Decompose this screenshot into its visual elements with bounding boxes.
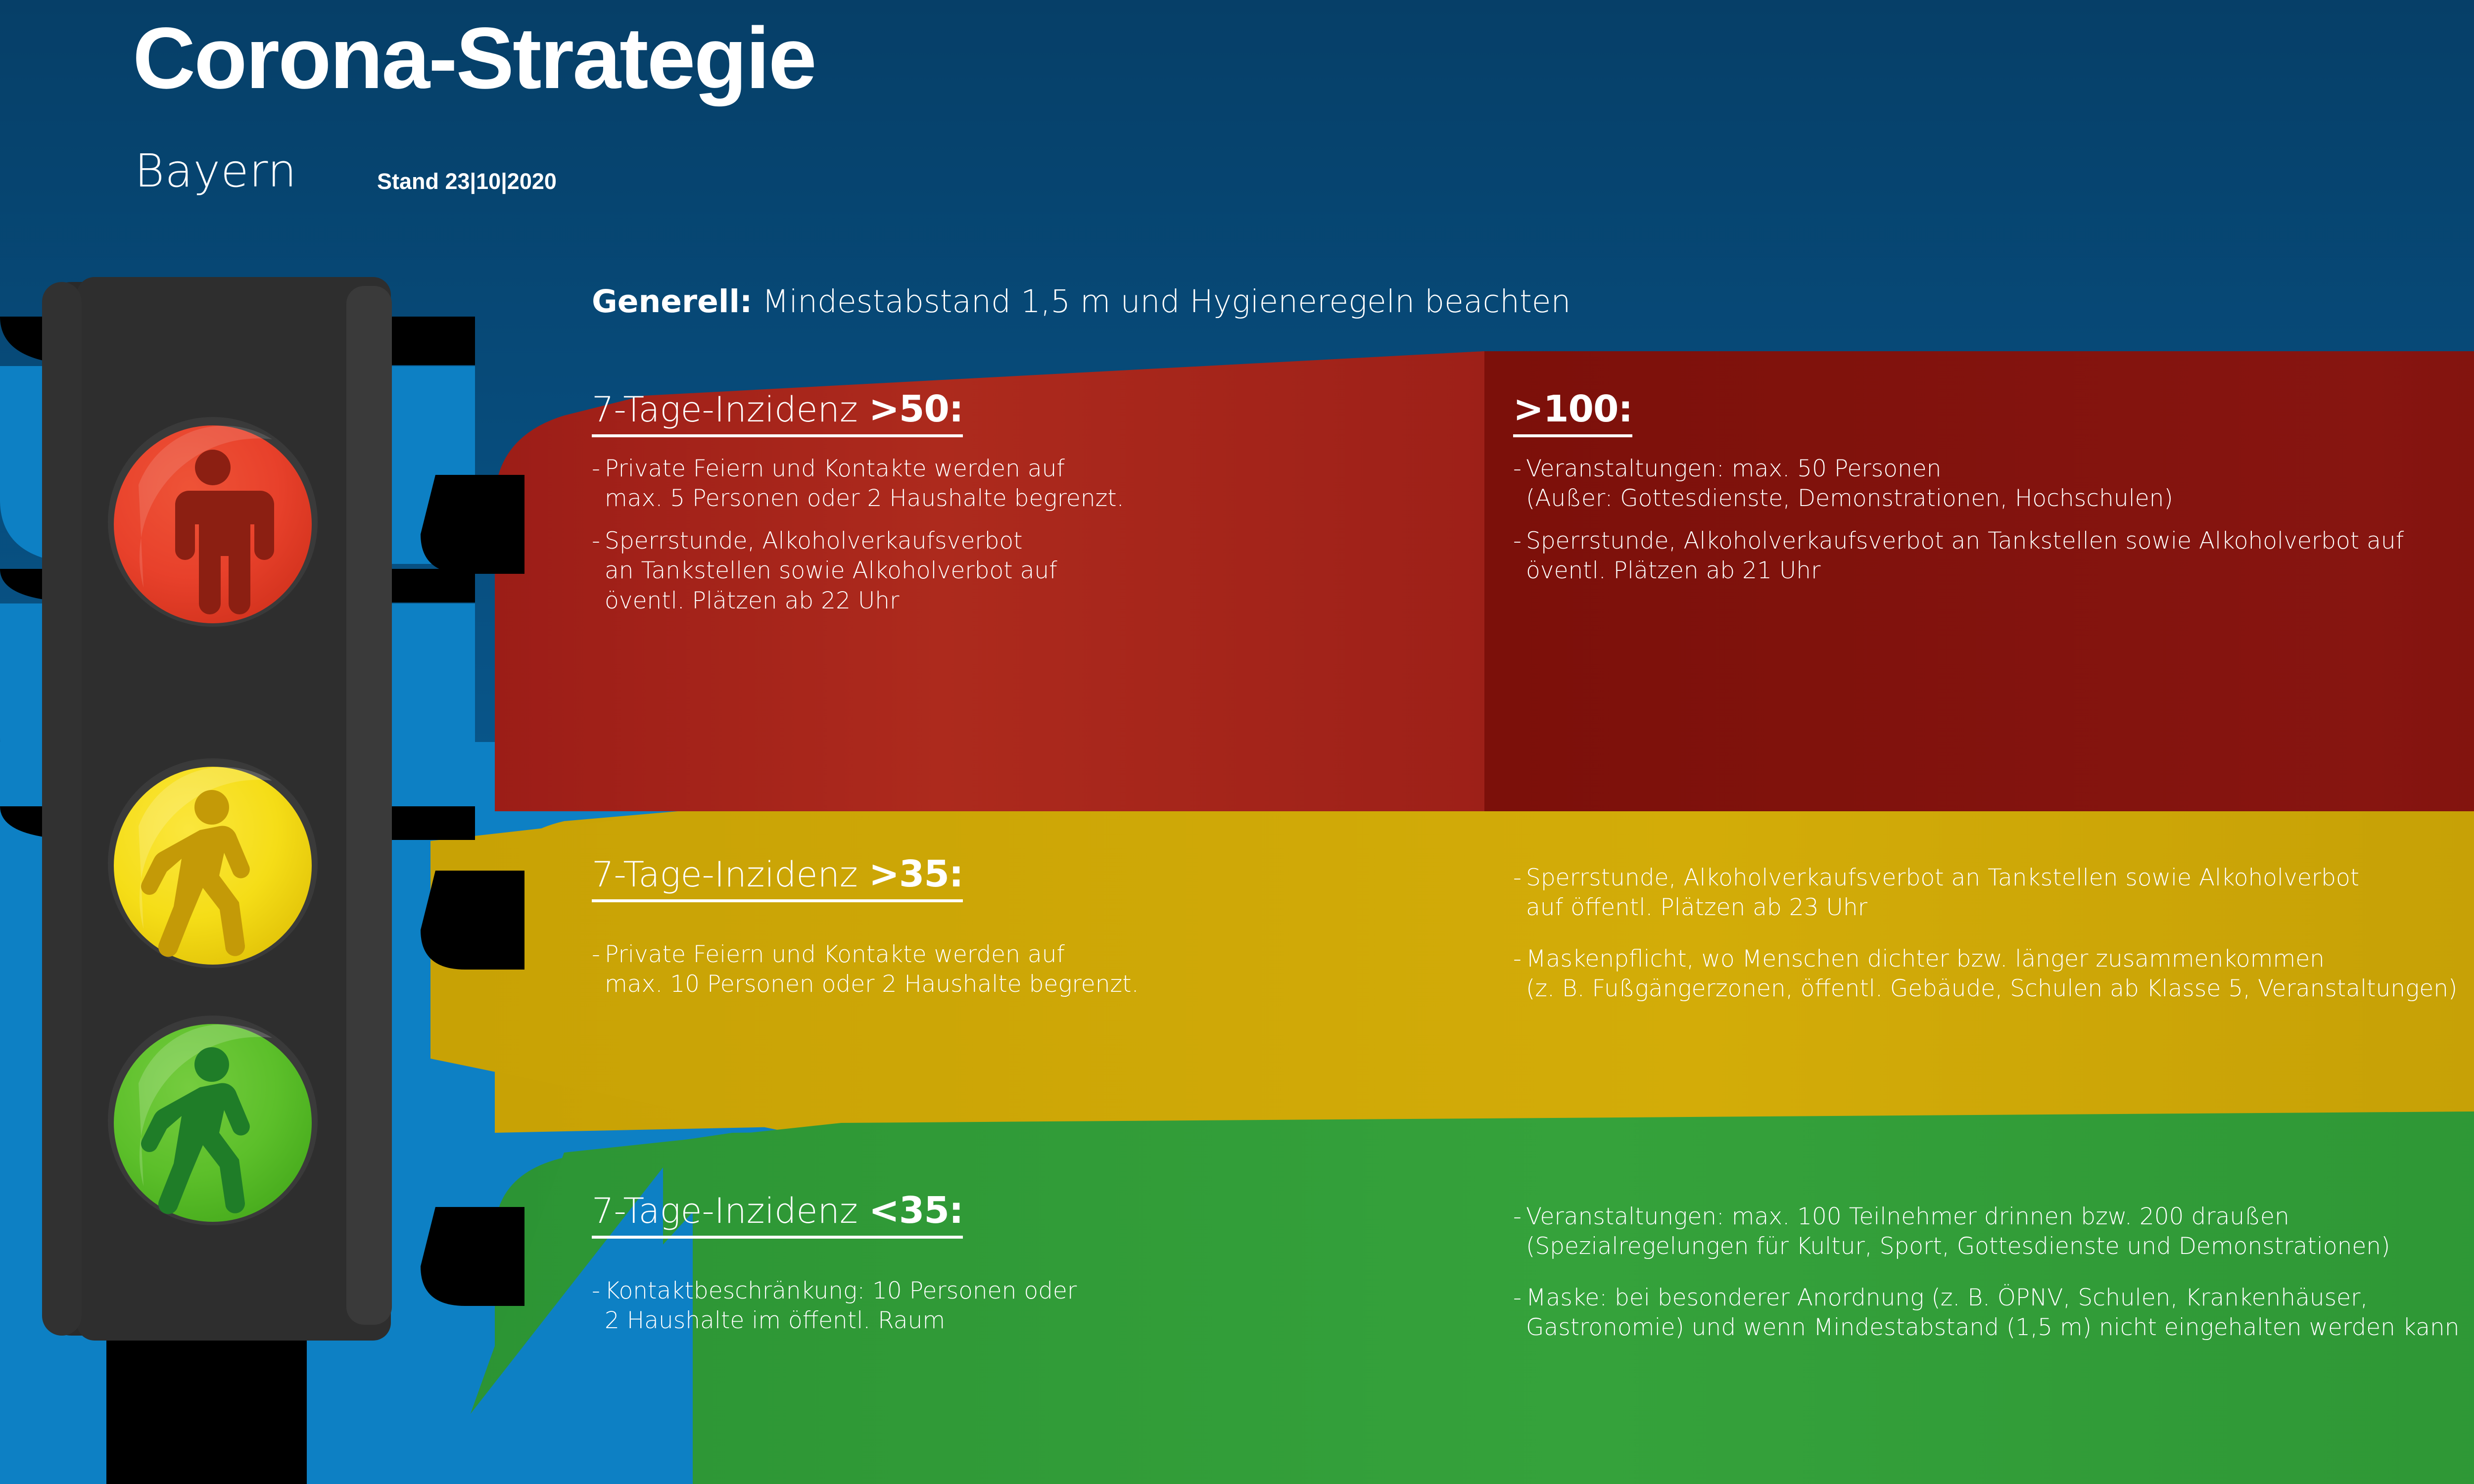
heading-prefix: 7-Tage-Inzidenz	[592, 389, 869, 430]
general-rule-text: Mindestabstand 1,5 m und Hygieneregeln b…	[762, 283, 1570, 320]
bullet-dash: -	[592, 940, 605, 999]
level-green-35-bullets: - Kontaktbeschränkung: 10 Personen oder …	[592, 1276, 1463, 1336]
level-green-35-heading: 7-Tage-Inzidenz <35:	[592, 1192, 963, 1239]
bullet-dash: -	[1513, 863, 1526, 923]
level-green-right: - Veranstaltungen: max. 100 Teilnehmer d…	[1513, 1202, 2474, 1356]
bullet-text: Veranstaltungen: max. 100 Teilnehmer dri…	[1526, 1202, 2390, 1261]
bullet-text: Private Feiern und Kontakte werden auf m…	[605, 940, 1139, 999]
bullet-text: Sperrstunde, Alkoholverkaufsverbot an Ta…	[605, 526, 1057, 615]
bullet-dash: -	[1513, 1283, 1526, 1343]
bullet-dash: -	[1513, 1202, 1526, 1261]
corona-strategie-infographic: Corona-Strategie Bayern Stand 23|10|2020	[0, 0, 2474, 1484]
threshold-value: 35:	[899, 853, 963, 895]
list-item: - Veranstaltungen: max. 50 Personen (Auß…	[1513, 454, 2474, 513]
list-item: - Sperrstunde, Alkoholverkaufsverbot an …	[592, 526, 1463, 615]
level-red-50-bullets: - Private Feiern und Kontakte werden auf…	[592, 454, 1463, 616]
level-yellow-35-heading: 7-Tage-Inzidenz >35:	[592, 856, 963, 902]
bullet-text: Private Feiern und Kontakte werden auf m…	[605, 454, 1124, 513]
bullet-text: Sperrstunde, Alkoholverkaufsverbot an Ta…	[1526, 526, 2404, 586]
level-red-100-bullets: - Veranstaltungen: max. 50 Personen (Auß…	[1513, 454, 2474, 586]
level-red-100: >100: - Veranstaltungen: max. 50 Persone…	[1513, 391, 2474, 599]
bullet-dash: -	[1513, 454, 1526, 513]
level-red-50-heading: 7-Tage-Inzidenz >50:	[592, 391, 963, 437]
level-yellow-right: - Sperrstunde, Alkoholverkaufsverbot an …	[1513, 863, 2474, 1017]
bullet-text: Kontaktbeschränkung: 10 Personen oder 2 …	[605, 1276, 1077, 1336]
list-item: - Veranstaltungen: max. 100 Teilnehmer d…	[1513, 1202, 2474, 1261]
level-yellow-right-bullets: - Sperrstunde, Alkoholverkaufsverbot an …	[1513, 863, 2474, 1004]
pedestrian-traffic-light	[0, 277, 495, 1484]
threshold-value: 100:	[1543, 388, 1632, 430]
bullet-dash: -	[1513, 944, 1526, 1004]
bullet-text: Sperrstunde, Alkoholverkaufsverbot an Ta…	[1526, 863, 2359, 923]
list-item: - Private Feiern und Kontakte werden auf…	[592, 454, 1463, 513]
level-yellow-35-bullets: - Private Feiern und Kontakte werden auf…	[592, 940, 1463, 999]
bullet-text: Maske: bei besonderer Anordnung (z. B. Ö…	[1526, 1283, 2460, 1343]
list-item: - Sperrstunde, Alkoholverkaufsverbot an …	[1513, 863, 2474, 923]
red-lamp	[108, 417, 318, 627]
heading-prefix: 7-Tage-Inzidenz	[592, 854, 869, 895]
bullet-dash: -	[1513, 526, 1526, 586]
list-item: - Maske: bei besonderer Anordnung (z. B.…	[1513, 1283, 2474, 1343]
list-item: - Private Feiern und Kontakte werden auf…	[592, 940, 1463, 999]
bullet-dash: -	[592, 526, 605, 615]
level-green-35: 7-Tage-Inzidenz <35: - Kontaktbeschränku…	[592, 1192, 1463, 1348]
level-yellow-35: 7-Tage-Inzidenz >35: - Private Feiern un…	[592, 856, 1463, 1012]
bullet-text: Veranstaltungen: max. 50 Personen (Außer…	[1526, 454, 2173, 513]
list-item: - Kontaktbeschränkung: 10 Personen oder …	[592, 1276, 1463, 1336]
green-lamp	[108, 1016, 318, 1225]
level-red-100-heading: >100:	[1513, 391, 1632, 437]
general-rule-label: Generell:	[592, 283, 752, 320]
heading-prefix: 7-Tage-Inzidenz	[592, 1191, 869, 1231]
comparator-icon: >	[1513, 388, 1543, 430]
bullet-dash: -	[592, 1276, 605, 1336]
general-rule-banner: Generell: Mindestabstand 1,5 m und Hygie…	[592, 286, 1570, 317]
comparator-icon: >	[869, 853, 899, 895]
threshold-value: 50:	[899, 388, 963, 430]
comparator-icon: >	[869, 388, 899, 430]
list-item: - Maskenpflicht, wo Menschen dichter bzw…	[1513, 944, 2474, 1004]
yellow-lamp	[108, 758, 318, 968]
list-item: - Sperrstunde, Alkoholverkaufsverbot an …	[1513, 526, 2474, 586]
threshold-value: 35:	[899, 1189, 963, 1232]
bullet-dash: -	[592, 454, 605, 513]
level-red-50: 7-Tage-Inzidenz >50: - Private Feiern un…	[592, 391, 1463, 629]
bullet-text: Maskenpflicht, wo Menschen dichter bzw. …	[1526, 944, 2457, 1004]
level-green-right-bullets: - Veranstaltungen: max. 100 Teilnehmer d…	[1513, 1202, 2474, 1343]
comparator-icon: <	[869, 1189, 899, 1232]
